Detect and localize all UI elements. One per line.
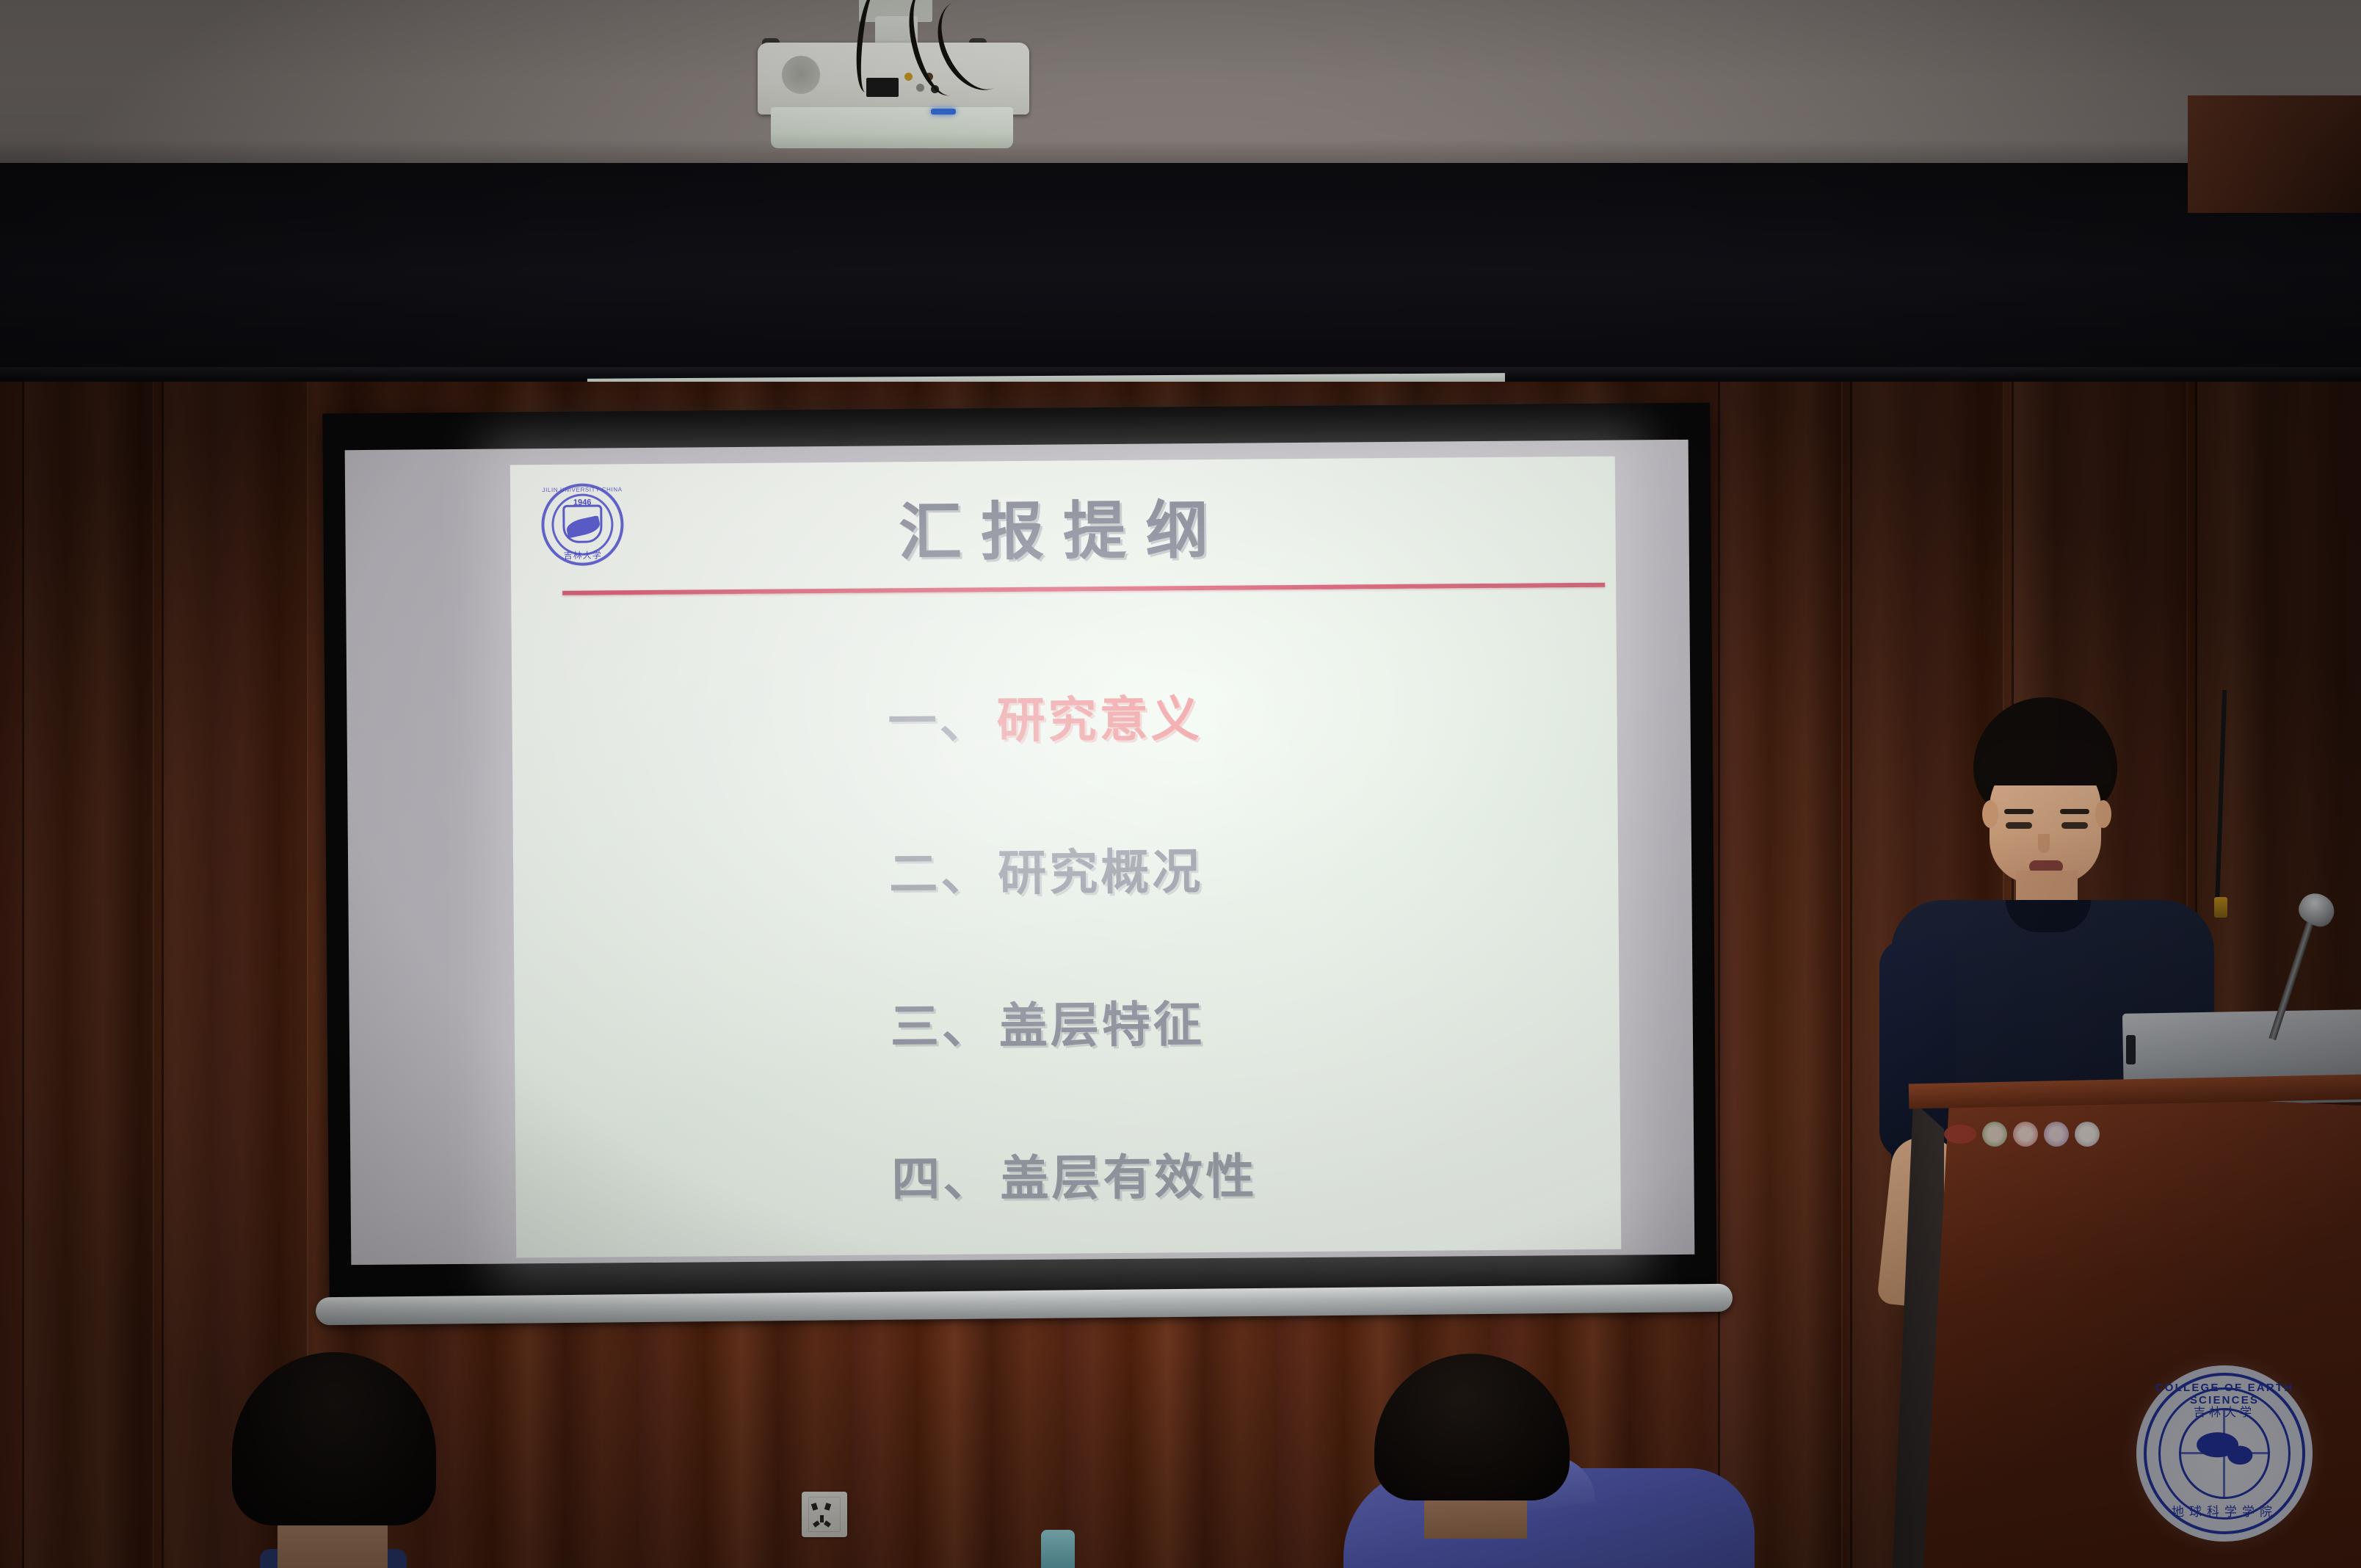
projection-screen-surface: JILIN UNIVERSITY CHINA 1946 吉林大学 汇报提纲 一、… — [345, 440, 1695, 1265]
lecture-hall-scene: JILIN UNIVERSITY CHINA 1946 吉林大学 汇报提纲 一、… — [0, 0, 2361, 1568]
podium-sticker — [2013, 1122, 2038, 1147]
presenter-eye-right — [2061, 822, 2088, 829]
audience-head — [232, 1352, 436, 1525]
podium-sticker-row — [1944, 1119, 2113, 1150]
outline-item-number: 一、 — [888, 681, 991, 752]
projector-status-led-icon — [931, 109, 956, 115]
presenter-eyebrow-left — [2004, 809, 2034, 814]
presenter-ear-right — [2095, 800, 2111, 828]
slide-outline-list: 一、 研究意义 二、 研究概况 三、 盖层特征 四、 盖层有效性 — [512, 677, 1621, 1258]
wall-corner-trim — [2188, 95, 2361, 213]
outline-item-label: 盖层特征 — [998, 985, 1205, 1057]
podium-sticker — [2075, 1122, 2100, 1147]
podium-sticker — [1944, 1125, 1976, 1144]
emblem-equator — [2179, 1452, 2270, 1454]
audience-member-front-center — [1343, 1377, 1755, 1568]
presenter-nose — [2038, 834, 2050, 853]
slide-outline-item-3: 三、 盖层特征 — [514, 982, 1620, 1061]
slide-title-rule — [562, 583, 1605, 595]
projected-slide: JILIN UNIVERSITY CHINA 1946 吉林大学 汇报提纲 一、… — [510, 457, 1621, 1258]
outline-item-label: 盖层有效性 — [1000, 1137, 1258, 1210]
outline-item-label: 研究概况 — [998, 832, 1204, 904]
wall-power-outlet[interactable] — [802, 1492, 847, 1537]
presenter-ear-left — [1982, 800, 1998, 828]
podium-sticker — [1982, 1122, 2007, 1147]
projector-base — [771, 107, 1013, 148]
outline-item-number: 三、 — [890, 987, 993, 1058]
slide-outline-item-2: 二、 研究概况 — [513, 830, 1619, 909]
ceiling-valance-band — [0, 163, 2361, 383]
emblem-chinese-bottom: 地球科学学院 — [2136, 1501, 2313, 1520]
projector-port-gray — [916, 84, 924, 92]
podium-sticker — [2044, 1122, 2069, 1147]
water-bottle[interactable] — [1041, 1530, 1075, 1568]
college-emblem-icon: COLLEGE OF EARTH SCIENCES 吉林大学 地球科学学院 — [2136, 1365, 2313, 1542]
presenter-eye-left — [2006, 822, 2032, 829]
projector-port-yellow — [904, 73, 913, 81]
projection-screen: JILIN UNIVERSITY CHINA 1946 吉林大学 汇报提纲 一、… — [322, 403, 1716, 1306]
outlet-faceplate — [808, 1497, 841, 1532]
slide-outline-item-1: 一、 研究意义 — [512, 677, 1617, 756]
projector-speaker-grille-icon — [782, 56, 820, 94]
outlet-slot — [820, 1515, 824, 1522]
audience-member-front-left — [213, 1377, 455, 1568]
emblem-chinese-top: 吉林大学 — [2136, 1402, 2313, 1420]
outline-item-number: 四、 — [891, 1139, 995, 1211]
slide-outline-item-4: 四、 盖层有效性 — [515, 1135, 1621, 1214]
outline-item-label: 研究意义 — [996, 680, 1203, 752]
presenter-fringe — [1978, 740, 2113, 785]
laptop-port — [2126, 1035, 2136, 1064]
outline-item-number: 二、 — [889, 834, 993, 905]
ceiling-projector — [749, 0, 1042, 173]
presenter-eyebrow-right — [2060, 809, 2089, 814]
slide-title: 汇报提纲 — [510, 476, 1616, 576]
